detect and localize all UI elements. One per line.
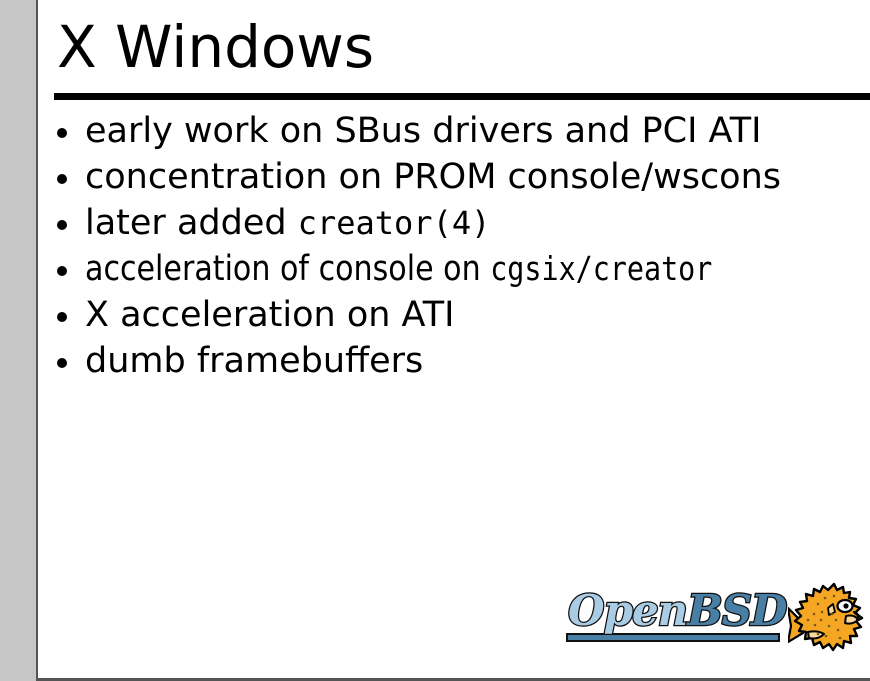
title-underline-rule bbox=[54, 93, 870, 100]
list-item-label: concentration on PROM console/wscons bbox=[85, 157, 781, 197]
wordmark-open: Open bbox=[568, 586, 687, 635]
list-item: dumb framebuffers bbox=[38, 338, 870, 384]
bullet-dot-icon bbox=[57, 220, 67, 230]
list-item-label: later added bbox=[85, 203, 298, 243]
slide-canvas: X Windows early work on SBus drivers and… bbox=[38, 0, 870, 678]
page-title: X Windows bbox=[57, 14, 374, 80]
list-item: X acceleration on ATI bbox=[38, 292, 870, 338]
list-item-label: early work on SBus drivers and PCI ATI bbox=[85, 111, 761, 151]
bullet-dot-icon bbox=[57, 174, 67, 184]
bullet-dot-icon bbox=[57, 358, 67, 368]
list-item-label: acceleration of console on cgsix/creator bbox=[85, 246, 712, 292]
list-item: concentration on PROM console/wscons bbox=[38, 154, 870, 200]
bullet-dot-icon bbox=[57, 128, 67, 138]
list-item-code: cgsix/creator bbox=[490, 249, 712, 288]
list-item: early work on SBus drivers and PCI ATI bbox=[38, 108, 870, 154]
list-item-code: creator(4) bbox=[298, 204, 491, 242]
wordmark-text: OpenBSD bbox=[568, 588, 786, 634]
bullet-dot-icon bbox=[57, 266, 67, 276]
openbsd-logo: OpenBSD bbox=[566, 578, 866, 674]
list-item-label: dumb framebuffers bbox=[85, 341, 423, 381]
list-item-text-part: acceleration of console on bbox=[85, 249, 490, 289]
puffy-blowfish-icon bbox=[788, 578, 866, 670]
list-item: later added creator(4) bbox=[38, 200, 870, 246]
bullet-list: early work on SBus drivers and PCI ATI c… bbox=[38, 108, 870, 384]
wordmark-bsd: BSD bbox=[687, 586, 786, 635]
list-item-label: X acceleration on ATI bbox=[85, 295, 454, 335]
bullet-dot-icon bbox=[57, 312, 67, 322]
list-item: acceleration of console on cgsix/creator bbox=[38, 246, 870, 292]
left-gutter-strip bbox=[0, 0, 36, 681]
slide-root: X Windows early work on SBus drivers and… bbox=[0, 0, 870, 681]
openbsd-wordmark: OpenBSD bbox=[566, 588, 784, 644]
